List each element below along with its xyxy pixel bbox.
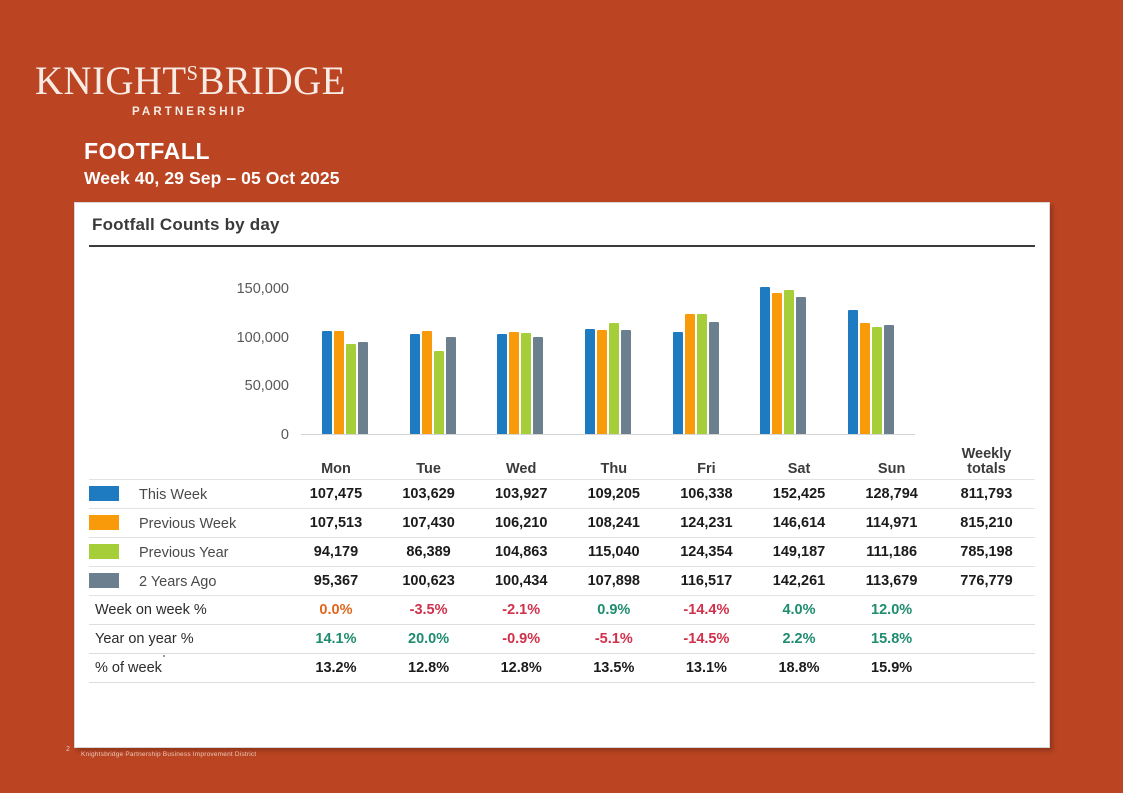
bar-thu [585,329,595,435]
y-tick-label: 150,000 [237,281,289,297]
page-title: FOOTFALL [84,138,340,164]
bar-wed [509,332,519,435]
logo-word-knight: KNIGHT [35,58,187,103]
bar-group-sat [740,265,828,435]
bar-mon [322,331,332,435]
series-legend-item: This Week [89,480,290,509]
column-header-weekly-totals: Weeklytotals [938,441,1035,480]
bar-fri [709,322,719,435]
table-cell-percent: 2.2% [753,625,846,654]
chart-plot-area [301,265,915,435]
table-cell: 94,179 [290,538,383,567]
series-label: This Week [129,487,207,503]
table-cell: 113,679 [845,567,938,596]
table-cell-total: 776,779 [938,567,1035,596]
table-cell: 149,187 [753,538,846,567]
table-cell: 103,629 [382,480,475,509]
footfall-table: MonTueWedThuFriSatSunWeeklytotals This W… [89,441,1035,683]
series-legend-item: Previous Week [89,509,290,538]
table-cell: 86,389 [382,538,475,567]
logo-wordmark: KNIGHTSBRIDGE [35,52,287,102]
bar-wed [533,337,543,435]
percent-row-label: Week on week % [89,596,290,625]
footfall-panel: Footfall Counts by day 050,000100,000150… [74,202,1050,748]
table-cell-percent: 4.0% [753,596,846,625]
legend-swatch [89,544,119,559]
series-label: 2 Years Ago [129,574,216,590]
table-cell-percent: 0.9% [567,596,660,625]
bar-group-thu [564,265,652,435]
table-row: This Week107,475103,629103,927109,205106… [89,480,1035,509]
bar-sun [872,327,882,435]
table-cell: 124,231 [660,509,753,538]
table-cell-percent: 13.1% [660,654,753,683]
table-cell: 142,261 [753,567,846,596]
table-cell-total: 815,210 [938,509,1035,538]
table-cell-percent: 14.1% [290,625,383,654]
bar-mon [358,342,368,435]
bar-group-wed [476,265,564,435]
panel-title: Footfall Counts by day [92,215,280,235]
table-cell: 124,354 [660,538,753,567]
table-cell-percent: 15.9% [845,654,938,683]
table-cell-total: 785,198 [938,538,1035,567]
table-cell-percent-total [938,625,1035,654]
page-title-block: FOOTFALL Week 40, 29 Sep – 05 Oct 2025 [84,138,340,188]
legend-swatch [89,573,119,588]
bar-group-tue [389,265,477,435]
table-cell: 103,927 [475,480,568,509]
bar-group-fri [652,265,740,435]
page-number: 2 [66,746,70,753]
table-cell: 107,430 [382,509,475,538]
table-cell: 128,794 [845,480,938,509]
bar-wed [521,333,531,435]
footfall-bar-chart: 050,000100,000150,000 [89,265,1035,445]
table-cell-percent: -2.1% [475,596,568,625]
table-cell: 108,241 [567,509,660,538]
table-row-percent: Year on year %14.1%20.0%-0.9%-5.1%-14.5%… [89,625,1035,654]
table-cell-percent-total [938,654,1035,683]
table-cell: 100,434 [475,567,568,596]
column-header-thu: Thu [567,441,660,480]
panel-divider [89,245,1035,247]
table-cell-percent: -5.1% [567,625,660,654]
table-cell: 114,971 [845,509,938,538]
bar-sat [760,287,770,435]
table-cell: 116,517 [660,567,753,596]
table-cell-percent: 13.5% [567,654,660,683]
table-cell: 107,513 [290,509,383,538]
table-cell-percent: 12.8% [475,654,568,683]
column-header-fri: Fri [660,441,753,480]
table-row: Previous Week107,513107,430106,210108,24… [89,509,1035,538]
table-cell: 106,210 [475,509,568,538]
bar-fri [673,332,683,435]
table-row: Previous Year94,17986,389104,863115,0401… [89,538,1035,567]
series-legend-item: 2 Years Ago [89,567,290,596]
bar-mon [334,331,344,435]
table-cell: 152,425 [753,480,846,509]
legend-swatch [89,486,119,501]
column-header-wed: Wed [475,441,568,480]
bar-sat [796,297,806,435]
bar-sat [784,290,794,435]
bar-sun [848,310,858,435]
table-cell: 106,338 [660,480,753,509]
chart-y-axis: 050,000100,000150,000 [89,265,299,435]
table-cell-percent: 20.0% [382,625,475,654]
table-cell-percent: 12.8% [382,654,475,683]
bar-thu [609,323,619,435]
column-header-sat: Sat [753,441,846,480]
table-cell-percent: 12.0% [845,596,938,625]
column-header-tue: Tue [382,441,475,480]
legend-swatch [89,515,119,530]
column-header-sun: Sun [845,441,938,480]
bar-thu [597,330,607,435]
bar-tue [434,351,444,435]
table-header-row: MonTueWedThuFriSatSunWeeklytotals [89,441,1035,480]
table-cell: 107,475 [290,480,383,509]
logo-tagline: PARTNERSHIP [132,106,295,118]
bar-sun [860,323,870,435]
series-legend-item: Previous Year [89,538,290,567]
header-spacer [89,441,290,480]
series-label: Previous Year [129,545,228,561]
chart-bar-groups [301,265,915,435]
table-cell-percent-total [938,596,1035,625]
table-cell-total: 811,793 [938,480,1035,509]
bar-sun [884,325,894,435]
y-tick-label: 50,000 [245,378,289,394]
table-cell-percent: -14.5% [660,625,753,654]
bar-wed [497,334,507,435]
table-cell: 109,205 [567,480,660,509]
bar-mon [346,344,356,435]
table-cell-percent: 13.2% [290,654,383,683]
bar-group-sun [827,265,915,435]
table-row: 2 Years Ago95,367100,623100,434107,89811… [89,567,1035,596]
logo-word-bridge: BRIDGE [198,58,345,103]
table-cell-percent: 15.8% [845,625,938,654]
table-cell: 100,623 [382,567,475,596]
bar-tue [410,334,420,435]
table-cell: 111,186 [845,538,938,567]
table-cell-percent: 18.8% [753,654,846,683]
column-header-mon: Mon [290,441,383,480]
table-cell-percent: 0.0% [290,596,383,625]
table-cell: 104,863 [475,538,568,567]
table-row-percent: Week on week %0.0%-3.5%-2.1%0.9%-14.4%4.… [89,596,1035,625]
table-row-percent: % of week13.2%12.8%12.8%13.5%13.1%18.8%1… [89,654,1035,683]
bar-group-mon [301,265,389,435]
table-cell: 95,367 [290,567,383,596]
table-cell: 107,898 [567,567,660,596]
bar-fri [697,314,707,435]
table-cell: 115,040 [567,538,660,567]
percent-row-label: Year on year % [89,625,290,654]
footer-text: Knightsbridge Partnership Business Impro… [81,751,256,758]
bar-fri [685,314,695,435]
series-label: Previous Week [129,516,236,532]
percent-row-label: % of week [89,654,290,683]
brand-logo: KNIGHTSBRIDGE PARTNERSHIP [35,52,295,110]
chart-baseline [301,434,915,435]
y-tick-label: 100,000 [237,330,289,346]
table-cell: 146,614 [753,509,846,538]
logo-superscript-s: S [187,61,199,85]
table-cell-percent: -0.9% [475,625,568,654]
table-cell-percent: -3.5% [382,596,475,625]
page-subtitle: Week 40, 29 Sep – 05 Oct 2025 [84,168,340,188]
bar-thu [621,330,631,435]
bar-tue [446,337,456,435]
bar-sat [772,293,782,435]
bar-tue [422,331,432,435]
table-cell-percent: -14.4% [660,596,753,625]
